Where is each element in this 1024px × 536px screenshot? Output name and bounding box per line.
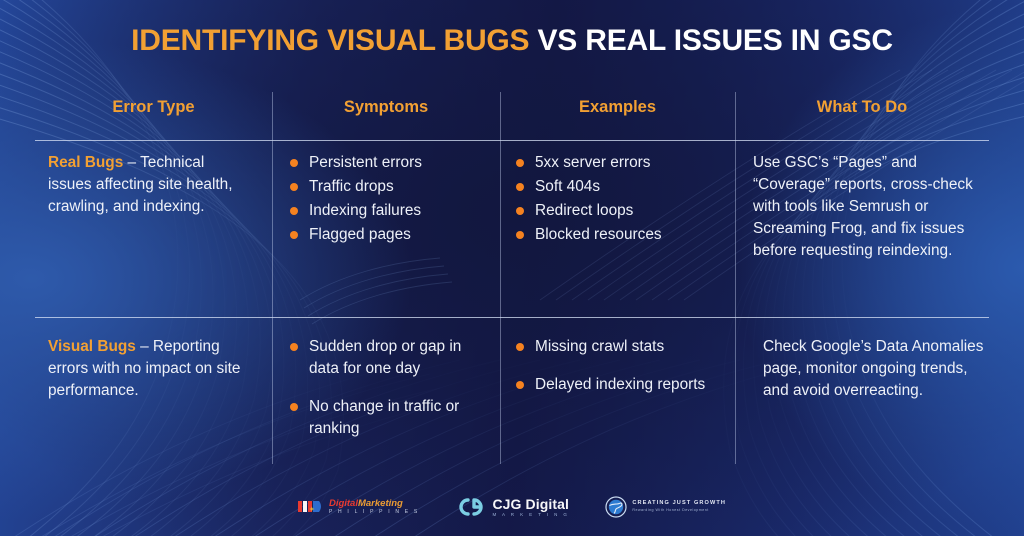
- list-item: Blocked resources: [516, 224, 729, 246]
- list-item-label: Persistent errors: [309, 154, 422, 171]
- what-to-do-text: Check Google’s Data Anomalies page, moni…: [763, 336, 994, 402]
- bullet-dot-icon: [516, 159, 524, 167]
- cell-examples: 5xx server errors Soft 404s Redirect loo…: [500, 152, 735, 261]
- list-item: Traffic drops: [290, 176, 494, 198]
- list-item: 5xx server errors: [516, 152, 729, 174]
- bullet-dot-icon: [290, 207, 298, 215]
- list-item: Indexing failures: [290, 200, 494, 222]
- bullet-dot-icon: [290, 183, 298, 191]
- examples-list: 5xx server errors Soft 404s Redirect loo…: [516, 152, 729, 246]
- table-row: Visual Bugs – Reporting errors with no i…: [0, 336, 1024, 456]
- cell-what-to-do: Check Google’s Data Anomalies page, moni…: [735, 336, 1024, 456]
- column-header-examples: Examples: [500, 88, 735, 140]
- list-item-label: Indexing failures: [309, 202, 421, 219]
- cell-symptoms: Sudden drop or gap in data for one day N…: [272, 336, 500, 456]
- error-type-term: Real Bugs: [48, 154, 123, 171]
- bullet-dot-icon: [516, 231, 524, 239]
- list-item-label: No change in traffic or ranking: [309, 398, 459, 437]
- logo-cjg-digital: CJG Digital M A R K E T I N G: [455, 496, 569, 518]
- list-item: Flagged pages: [290, 224, 494, 246]
- table-header: Error Type Symptoms Examples What To Do: [35, 88, 989, 140]
- cell-error-type: Real Bugs – Technical issues affecting s…: [0, 152, 272, 261]
- list-item-label: Redirect loops: [535, 202, 633, 219]
- cjg-globe-icon: [605, 496, 627, 518]
- list-item: Delayed indexing reports: [516, 374, 729, 396]
- cell-error-type: Visual Bugs – Reporting errors with no i…: [0, 336, 272, 456]
- page-title: IDENTIFYING VISUAL BUGS VS REAL ISSUES I…: [0, 24, 1024, 57]
- bullet-dot-icon: [290, 231, 298, 239]
- logo-digital-marketing-philippines: DigitalMarketing P H I L I P P I N E S: [298, 499, 419, 516]
- cjg-logo-icon: [455, 496, 487, 518]
- dmp-logo-icon: [298, 499, 324, 515]
- table-row: Real Bugs – Technical issues affecting s…: [0, 152, 1024, 261]
- infographic-canvas: IDENTIFYING VISUAL BUGS VS REAL ISSUES I…: [0, 0, 1024, 536]
- header-divider: [35, 140, 989, 141]
- list-item: Missing crawl stats: [516, 336, 729, 358]
- column-header-error-type: Error Type: [35, 88, 272, 140]
- bullet-dot-icon: [290, 343, 298, 351]
- list-item: Persistent errors: [290, 152, 494, 174]
- title-plain: VS REAL ISSUES IN GSC: [538, 24, 893, 57]
- list-item-label: Blocked resources: [535, 226, 662, 243]
- column-header-what-to-do: What To Do: [735, 88, 989, 140]
- list-item-label: Sudden drop or gap in data for one day: [309, 338, 461, 377]
- bullet-dot-icon: [516, 207, 524, 215]
- cg-logo-name: CREATING JUST GROWTH: [632, 501, 726, 507]
- list-item-label: Flagged pages: [309, 226, 411, 243]
- cg-logo-text: CREATING JUST GROWTH Rewarding With Hone…: [632, 501, 726, 512]
- bullet-dot-icon: [290, 159, 298, 167]
- footer-logos: DigitalMarketing P H I L I P P I N E S C…: [0, 496, 1024, 518]
- dmp-logo-text: DigitalMarketing P H I L I P P I N E S: [329, 499, 419, 516]
- column-header-symptoms: Symptoms: [272, 88, 500, 140]
- symptoms-list: Sudden drop or gap in data for one day N…: [290, 336, 494, 440]
- cell-examples: Missing crawl stats Delayed indexing rep…: [500, 336, 735, 456]
- bullet-dot-icon: [516, 343, 524, 351]
- symptoms-list: Persistent errors Traffic drops Indexing…: [290, 152, 494, 246]
- list-item-label: 5xx server errors: [535, 154, 650, 171]
- list-item-label: Traffic drops: [309, 178, 394, 195]
- cell-what-to-do: Use GSC’s “Pages” and “Coverage” reports…: [735, 152, 1024, 261]
- title-highlight: IDENTIFYING VISUAL BUGS: [131, 24, 529, 57]
- list-item-label: Soft 404s: [535, 178, 600, 195]
- list-item-label: Delayed indexing reports: [535, 376, 705, 393]
- row-divider: [35, 317, 989, 318]
- bullet-dot-icon: [516, 381, 524, 389]
- bullet-dot-icon: [290, 403, 298, 411]
- what-to-do-text: Use GSC’s “Pages” and “Coverage” reports…: [753, 152, 994, 261]
- dmp-logo-subtitle: P H I L I P P I N E S: [329, 510, 419, 515]
- cjg-logo-text: CJG Digital M A R K E T I N G: [492, 497, 569, 518]
- dmp-logo-name: DigitalMarketing: [329, 499, 419, 509]
- list-item: No change in traffic or ranking: [290, 396, 494, 440]
- list-item: Soft 404s: [516, 176, 729, 198]
- cjg-logo-name: CJG Digital: [492, 497, 569, 511]
- examples-list: Missing crawl stats Delayed indexing rep…: [516, 336, 729, 396]
- list-item: Sudden drop or gap in data for one day: [290, 336, 494, 380]
- cg-logo-subtitle: Rewarding With Honest Development: [632, 509, 726, 513]
- list-item: Redirect loops: [516, 200, 729, 222]
- cell-symptoms: Persistent errors Traffic drops Indexing…: [272, 152, 500, 261]
- cjg-logo-subtitle: M A R K E T I N G: [492, 513, 569, 518]
- list-item-label: Missing crawl stats: [535, 338, 664, 355]
- error-type-term: Visual Bugs: [48, 338, 136, 355]
- bullet-dot-icon: [516, 183, 524, 191]
- logo-creating-just-growth: CREATING JUST GROWTH Rewarding With Hone…: [605, 496, 726, 518]
